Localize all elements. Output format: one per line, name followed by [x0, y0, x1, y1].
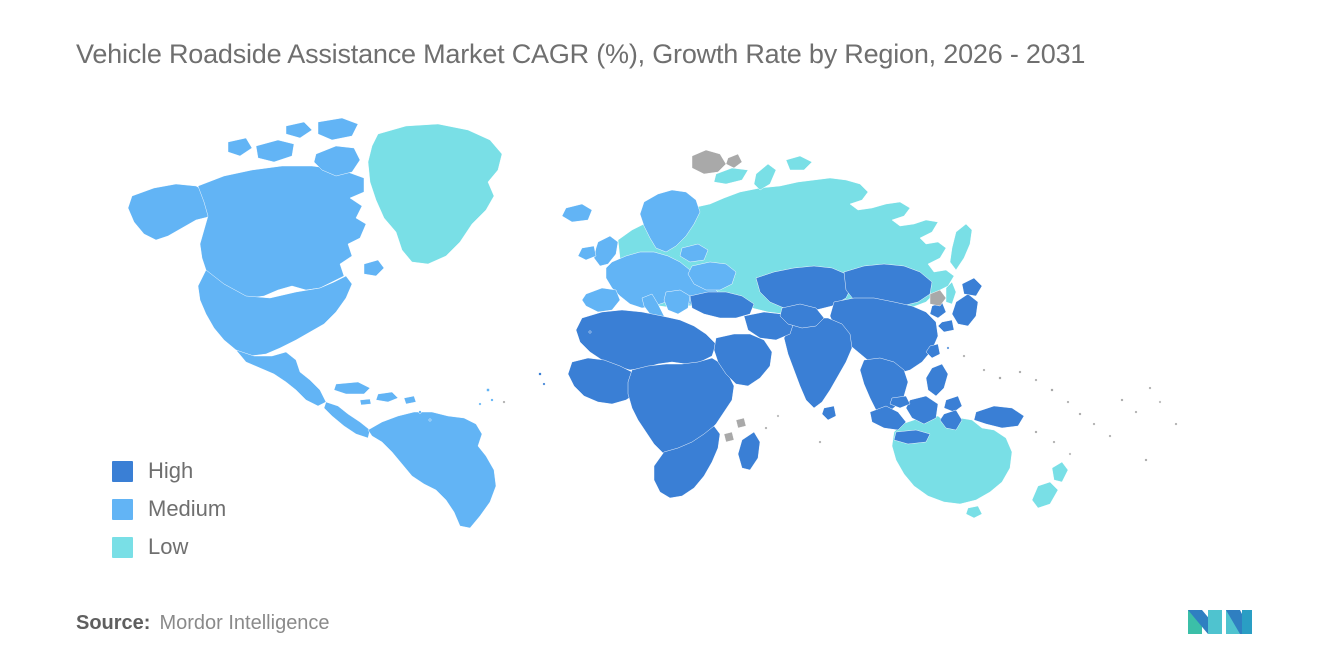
island-dot: [1035, 431, 1038, 434]
region-tasmania[interactable]: [966, 506, 982, 518]
region-newfoundland[interactable]: [364, 260, 384, 276]
source-label: Source:: [76, 612, 150, 635]
region-ireland[interactable]: [578, 246, 596, 260]
island-dot: [479, 403, 482, 406]
legend-label-high: High: [148, 458, 193, 484]
page-title: Vehicle Roadside Assistance Market CAGR …: [76, 38, 1276, 72]
island-dot: [543, 383, 546, 386]
map-legend: High Medium Low: [112, 452, 226, 566]
region-banks-island[interactable]: [228, 138, 252, 156]
region-new-zealand-north[interactable]: [1052, 462, 1068, 482]
island-dot: [999, 377, 1002, 380]
island-dot: [1053, 441, 1056, 444]
region-papua-new-guinea[interactable]: [974, 406, 1024, 428]
source-line: Source: Mordor Intelligence: [76, 612, 330, 635]
island-dot: [1035, 379, 1038, 382]
island-dot: [419, 411, 422, 414]
region-japan-kyushu[interactable]: [938, 320, 954, 332]
island-dot: [1109, 435, 1112, 438]
logo-mark-icon: [1182, 596, 1258, 642]
legend-label-low: Low: [148, 534, 188, 560]
region-canada[interactable]: [198, 166, 366, 298]
source-value: Mordor Intelligence: [159, 612, 329, 635]
island-dot: [765, 427, 768, 430]
region-south-america[interactable]: [368, 412, 496, 528]
island-dot: [429, 419, 431, 421]
region-madagascar[interactable]: [738, 432, 760, 470]
region-arctic-island-a[interactable]: [286, 122, 312, 138]
island-dot: [963, 355, 966, 358]
island-dot: [947, 347, 949, 349]
region-small-islands-gray-b[interactable]: [736, 418, 746, 428]
legend-swatch-high: [112, 461, 133, 482]
region-india[interactable]: [784, 318, 852, 408]
region-victoria-island[interactable]: [256, 140, 294, 162]
island-dot: [1159, 401, 1161, 403]
region-new-zealand-south[interactable]: [1032, 482, 1058, 508]
region-greenland[interactable]: [368, 124, 502, 264]
mordor-intelligence-logo: [1182, 596, 1258, 642]
island-dot: [1145, 459, 1148, 462]
chart-page: Vehicle Roadside Assistance Market CAGR …: [0, 0, 1320, 665]
island-dot: [1093, 423, 1096, 426]
island-dot: [1175, 423, 1178, 426]
legend-swatch-low: [112, 537, 133, 558]
region-puerto-rico[interactable]: [404, 396, 416, 404]
island-dot: [503, 401, 506, 404]
region-philippines[interactable]: [926, 364, 948, 396]
region-iberia[interactable]: [582, 288, 620, 312]
region-svalbard[interactable]: [692, 150, 726, 174]
region-small-islands-gray-a[interactable]: [724, 432, 734, 442]
region-ellesmere-island[interactable]: [318, 118, 358, 140]
region-cuba[interactable]: [334, 382, 370, 394]
island-dot: [819, 441, 822, 444]
region-sumatra[interactable]: [870, 406, 906, 430]
island-dot: [1079, 413, 1082, 416]
region-philippines-south[interactable]: [944, 396, 962, 412]
island-dot: [1019, 371, 1022, 374]
island-dot: [983, 369, 986, 372]
island-dot: [1067, 401, 1070, 404]
legend-item-medium[interactable]: Medium: [112, 490, 226, 528]
legend-swatch-medium: [112, 499, 133, 520]
island-dot: [486, 388, 489, 391]
region-svalbard-small[interactable]: [726, 154, 742, 168]
region-russia-kamchatka[interactable]: [950, 224, 972, 270]
region-japan-honshu[interactable]: [952, 294, 978, 326]
region-balkans[interactable]: [664, 290, 690, 314]
region-severnaya-zemlya[interactable]: [786, 156, 812, 170]
world-map-container: [120, 112, 1200, 542]
region-novaya-zemlya[interactable]: [754, 164, 776, 190]
legend-item-low[interactable]: Low: [112, 528, 226, 566]
region-jamaica[interactable]: [360, 399, 371, 405]
region-sri-lanka[interactable]: [822, 406, 836, 420]
region-iceland[interactable]: [562, 204, 592, 222]
island-dot: [1135, 411, 1138, 414]
island-dot: [1149, 387, 1152, 390]
island-dot: [539, 373, 542, 376]
legend-item-high[interactable]: High: [112, 452, 226, 490]
island-dot: [1051, 389, 1054, 392]
legend-label-medium: Medium: [148, 496, 226, 522]
region-mexico[interactable]: [236, 350, 326, 406]
region-japan-hokkaido[interactable]: [962, 278, 982, 296]
island-dot: [1069, 453, 1071, 455]
island-dot: [491, 399, 494, 402]
island-dot: [1121, 399, 1124, 402]
island-dot: [589, 331, 591, 333]
region-central-america[interactable]: [324, 402, 370, 438]
world-choropleth-map: [120, 112, 1200, 542]
region-hispaniola[interactable]: [376, 392, 398, 402]
island-dot: [777, 415, 779, 417]
